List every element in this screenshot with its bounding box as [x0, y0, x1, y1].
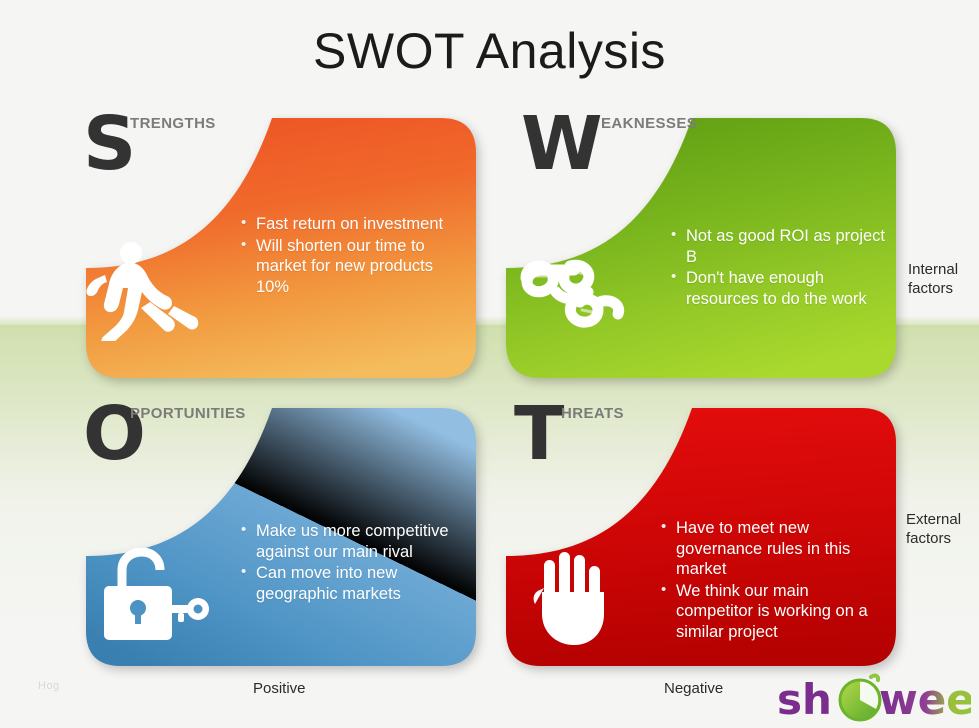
threats-word: HREATS — [561, 405, 624, 422]
list-item: Will shorten our time to market for new … — [241, 236, 466, 298]
threats-letter: T — [514, 391, 562, 477]
list-item: Fast return on investment — [241, 214, 466, 235]
svg-text:sh: sh — [777, 675, 832, 724]
tangled-knot-icon — [512, 252, 632, 334]
axis-label-internal-line1: Internal — [908, 260, 958, 279]
list-item: We think our main competitor is working … — [661, 581, 889, 643]
svg-text:weet: weet — [879, 675, 971, 724]
strengths-word: TRENGTHS — [130, 115, 216, 132]
axis-label-external-line2: factors — [906, 529, 961, 548]
quadrant-threats: Have to meet new governance rules in thi… — [506, 408, 896, 666]
open-padlock-icon — [100, 548, 215, 646]
list-item: Not as good ROI as project B — [671, 226, 899, 267]
quadrant-opportunities: Make us more competitive against our mai… — [86, 408, 476, 666]
weaknesses-bullet-list: Not as good ROI as project B Don't have … — [671, 226, 899, 310]
weaknesses-letter: W — [521, 101, 601, 187]
axis-label-internal-line2: factors — [908, 279, 958, 298]
axis-label-negative: Negative — [664, 679, 723, 698]
strengths-letter: S — [83, 101, 134, 187]
quadrant-weaknesses: Not as good ROI as project B Don't have … — [506, 118, 896, 378]
list-item: Have to meet new governance rules in thi… — [661, 518, 889, 580]
opportunities-bullet-list: Make us more competitive against our mai… — [241, 521, 459, 605]
list-item: Make us more competitive against our mai… — [241, 521, 459, 562]
stop-hand-icon — [532, 548, 618, 648]
list-item: Don't have enough resources to do the wo… — [671, 268, 899, 309]
list-item: Can move into new geographic markets — [241, 563, 459, 604]
showeet-logo[interactable]: sh weet — [775, 672, 971, 726]
page-title: SWOT Analysis — [0, 22, 979, 80]
threats-bullet-list: Have to meet new governance rules in thi… — [661, 518, 889, 643]
opportunities-badge: O PPORTUNITIES — [83, 400, 144, 468]
axis-label-external: External factors — [906, 510, 961, 548]
pushing-person-icon — [84, 236, 204, 341]
opportunities-word: PPORTUNITIES — [130, 405, 246, 422]
weaknesses-word: EAKNESSES — [601, 115, 697, 132]
strengths-bullet-list: Fast return on investment Will shorten o… — [241, 214, 466, 298]
axis-label-external-line1: External — [906, 510, 961, 529]
swot-slide: SWOT Analysis Fast return on investment … — [0, 0, 979, 728]
threats-badge: T HREATS — [514, 400, 562, 468]
axis-label-positive: Positive — [253, 679, 306, 698]
opportunities-letter: O — [83, 391, 144, 477]
slide-watermark: Hog — [38, 680, 60, 692]
axis-label-internal: Internal factors — [908, 260, 958, 298]
quadrant-strengths: Fast return on investment Will shorten o… — [86, 118, 476, 378]
weaknesses-badge: W EAKNESSES — [521, 110, 601, 178]
strengths-badge: S TRENGTHS — [83, 110, 134, 178]
